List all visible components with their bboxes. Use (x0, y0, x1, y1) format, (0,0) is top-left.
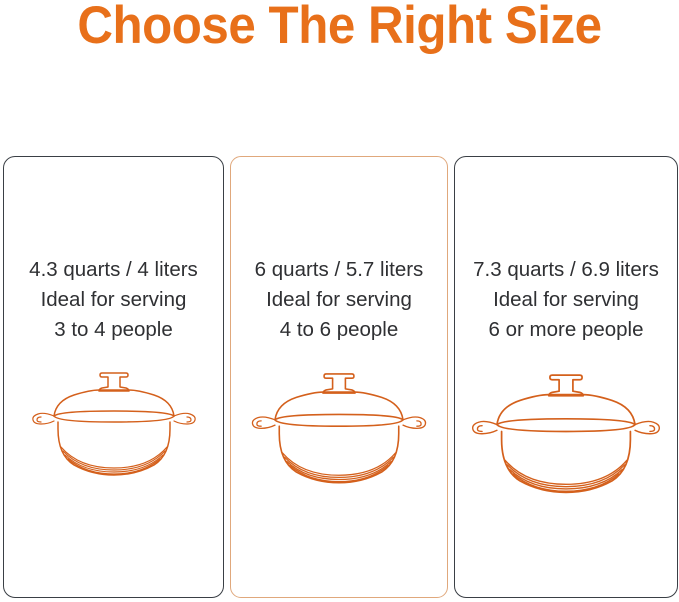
size-card-small[interactable]: 4.3 quarts / 4 liters Ideal for serving … (3, 156, 224, 598)
size-card-text: 6 quarts / 5.7 liters Ideal for serving … (231, 255, 447, 345)
size-card-text: 4.3 quarts / 4 liters Ideal for serving … (4, 255, 223, 345)
dutch-oven-icon (24, 359, 204, 479)
capacity-label: 6 quarts / 5.7 liters (231, 255, 447, 285)
serving-count-label: 6 or more people (455, 315, 677, 345)
size-card-text: 7.3 quarts / 6.9 liters Ideal for servin… (455, 255, 677, 345)
capacity-label: 7.3 quarts / 6.9 liters (455, 255, 677, 285)
capacity-label: 4.3 quarts / 4 liters (4, 255, 223, 285)
serving-count-label: 4 to 6 people (231, 315, 447, 345)
page-title: Choose The Right Size (24, 0, 655, 54)
serving-label: Ideal for serving (4, 285, 223, 315)
dutch-oven-icon (241, 359, 437, 487)
serving-label: Ideal for serving (231, 285, 447, 315)
dutch-oven-illustration-small (4, 352, 223, 597)
serving-count-label: 3 to 4 people (4, 315, 223, 345)
serving-label: Ideal for serving (455, 285, 677, 315)
size-card-medium[interactable]: 6 quarts / 5.7 liters Ideal for serving … (230, 156, 448, 598)
dutch-oven-illustration-medium (231, 352, 447, 597)
size-card-large[interactable]: 7.3 quarts / 6.9 liters Ideal for servin… (454, 156, 678, 598)
dutch-oven-icon (460, 359, 672, 497)
dutch-oven-illustration-large (455, 352, 677, 597)
